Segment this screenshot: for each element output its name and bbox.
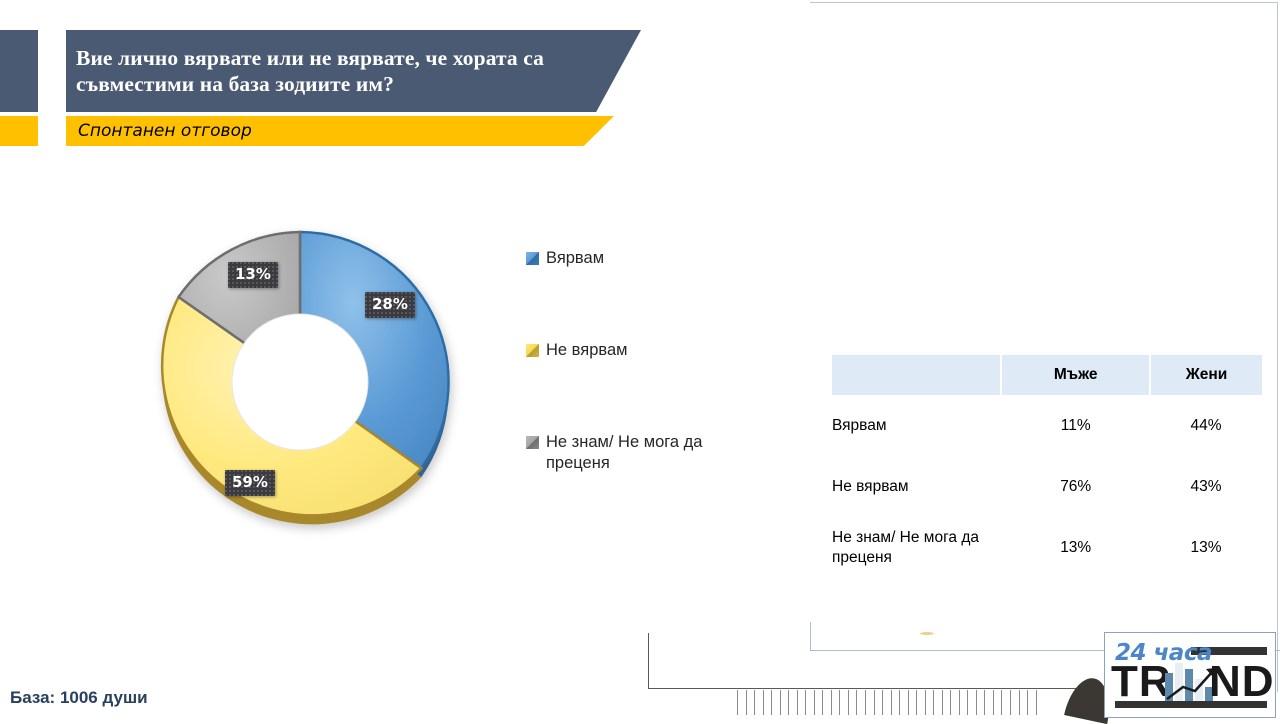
table-cell-label: Не вярвам <box>832 456 1001 517</box>
donut-chart-svg <box>140 222 470 542</box>
table-header-blank <box>832 355 1001 395</box>
table-row: Не вярвам 76% 43% <box>832 456 1262 517</box>
table-row: Вярвам 11% 44% <box>832 395 1262 456</box>
slide-border-right <box>1277 2 1278 692</box>
table-cell-women: 13% <box>1150 517 1262 578</box>
legend-item-not-believe[interactable]: Не вярвам <box>526 340 756 361</box>
legend-swatch-icon <box>526 252 539 265</box>
legend-swatch-icon <box>526 344 539 357</box>
subtitle-banner: Спонтанен отговор <box>66 116 614 146</box>
table-cell-men: 13% <box>1001 517 1150 578</box>
table-cell-women: 43% <box>1150 456 1262 517</box>
footer-decoration-line <box>648 688 1098 689</box>
legend-item-dont-know[interactable]: Не знам/ Не мога да преценя <box>526 432 756 474</box>
table-row: Не знам/ Не мога да преценя 13% 13% <box>832 517 1262 578</box>
footer-tick-marks <box>737 690 1037 715</box>
question-banner: Вие лично вярвате или не вярвате, че хор… <box>66 30 641 112</box>
legend-swatch-icon <box>526 436 539 449</box>
base-note: База: 1006 души <box>10 688 148 708</box>
question-text: Вие лично вярвате или не вярвате, че хор… <box>66 45 641 97</box>
gender-breakdown-table: Мъже Жени Вярвам 11% 44% Не вярвам 76% 4… <box>832 355 1262 578</box>
slide-border-top <box>810 2 1278 3</box>
table-header-women: Жени <box>1150 355 1262 395</box>
legend-label: Не вярвам <box>546 340 627 361</box>
footer-decoration-line <box>648 633 649 689</box>
legend-label: Вярвам <box>546 248 604 269</box>
table-cell-label: Вярвам <box>832 395 1001 456</box>
footer-decoration-line-light <box>810 622 811 650</box>
table-cell-women: 44% <box>1150 395 1262 456</box>
donut-value-not-believe: 59% <box>225 470 275 496</box>
table-header-row: Мъже Жени <box>832 355 1262 395</box>
donut-chart: 28% 59% 13% <box>140 222 470 542</box>
logo-trend-text-right: ND <box>1209 657 1275 707</box>
donut-value-believe: 28% <box>365 292 415 318</box>
table-cell-men: 76% <box>1001 456 1150 517</box>
table-cell-men: 11% <box>1001 395 1150 456</box>
table-header-men: Мъже <box>1001 355 1150 395</box>
table-cell-label: Не знам/ Не мога да преценя <box>832 517 1001 578</box>
brand-logo: 24 часа TR ND <box>1104 632 1276 718</box>
legend-item-believe[interactable]: Вярвам <box>526 248 756 269</box>
legend-label: Не знам/ Не мога да преценя <box>546 432 756 474</box>
subtitle-text: Спонтанен отговор <box>66 121 252 141</box>
footer-decoration-dot <box>920 632 934 635</box>
chart-legend: Вярвам Не вярвам Не знам/ Не мога да пре… <box>526 248 756 474</box>
donut-value-dont-know: 13% <box>228 262 278 288</box>
logo-bar-bottom <box>1115 701 1267 708</box>
header-yellow-tab <box>0 116 38 146</box>
header-navy-tab <box>0 30 38 112</box>
